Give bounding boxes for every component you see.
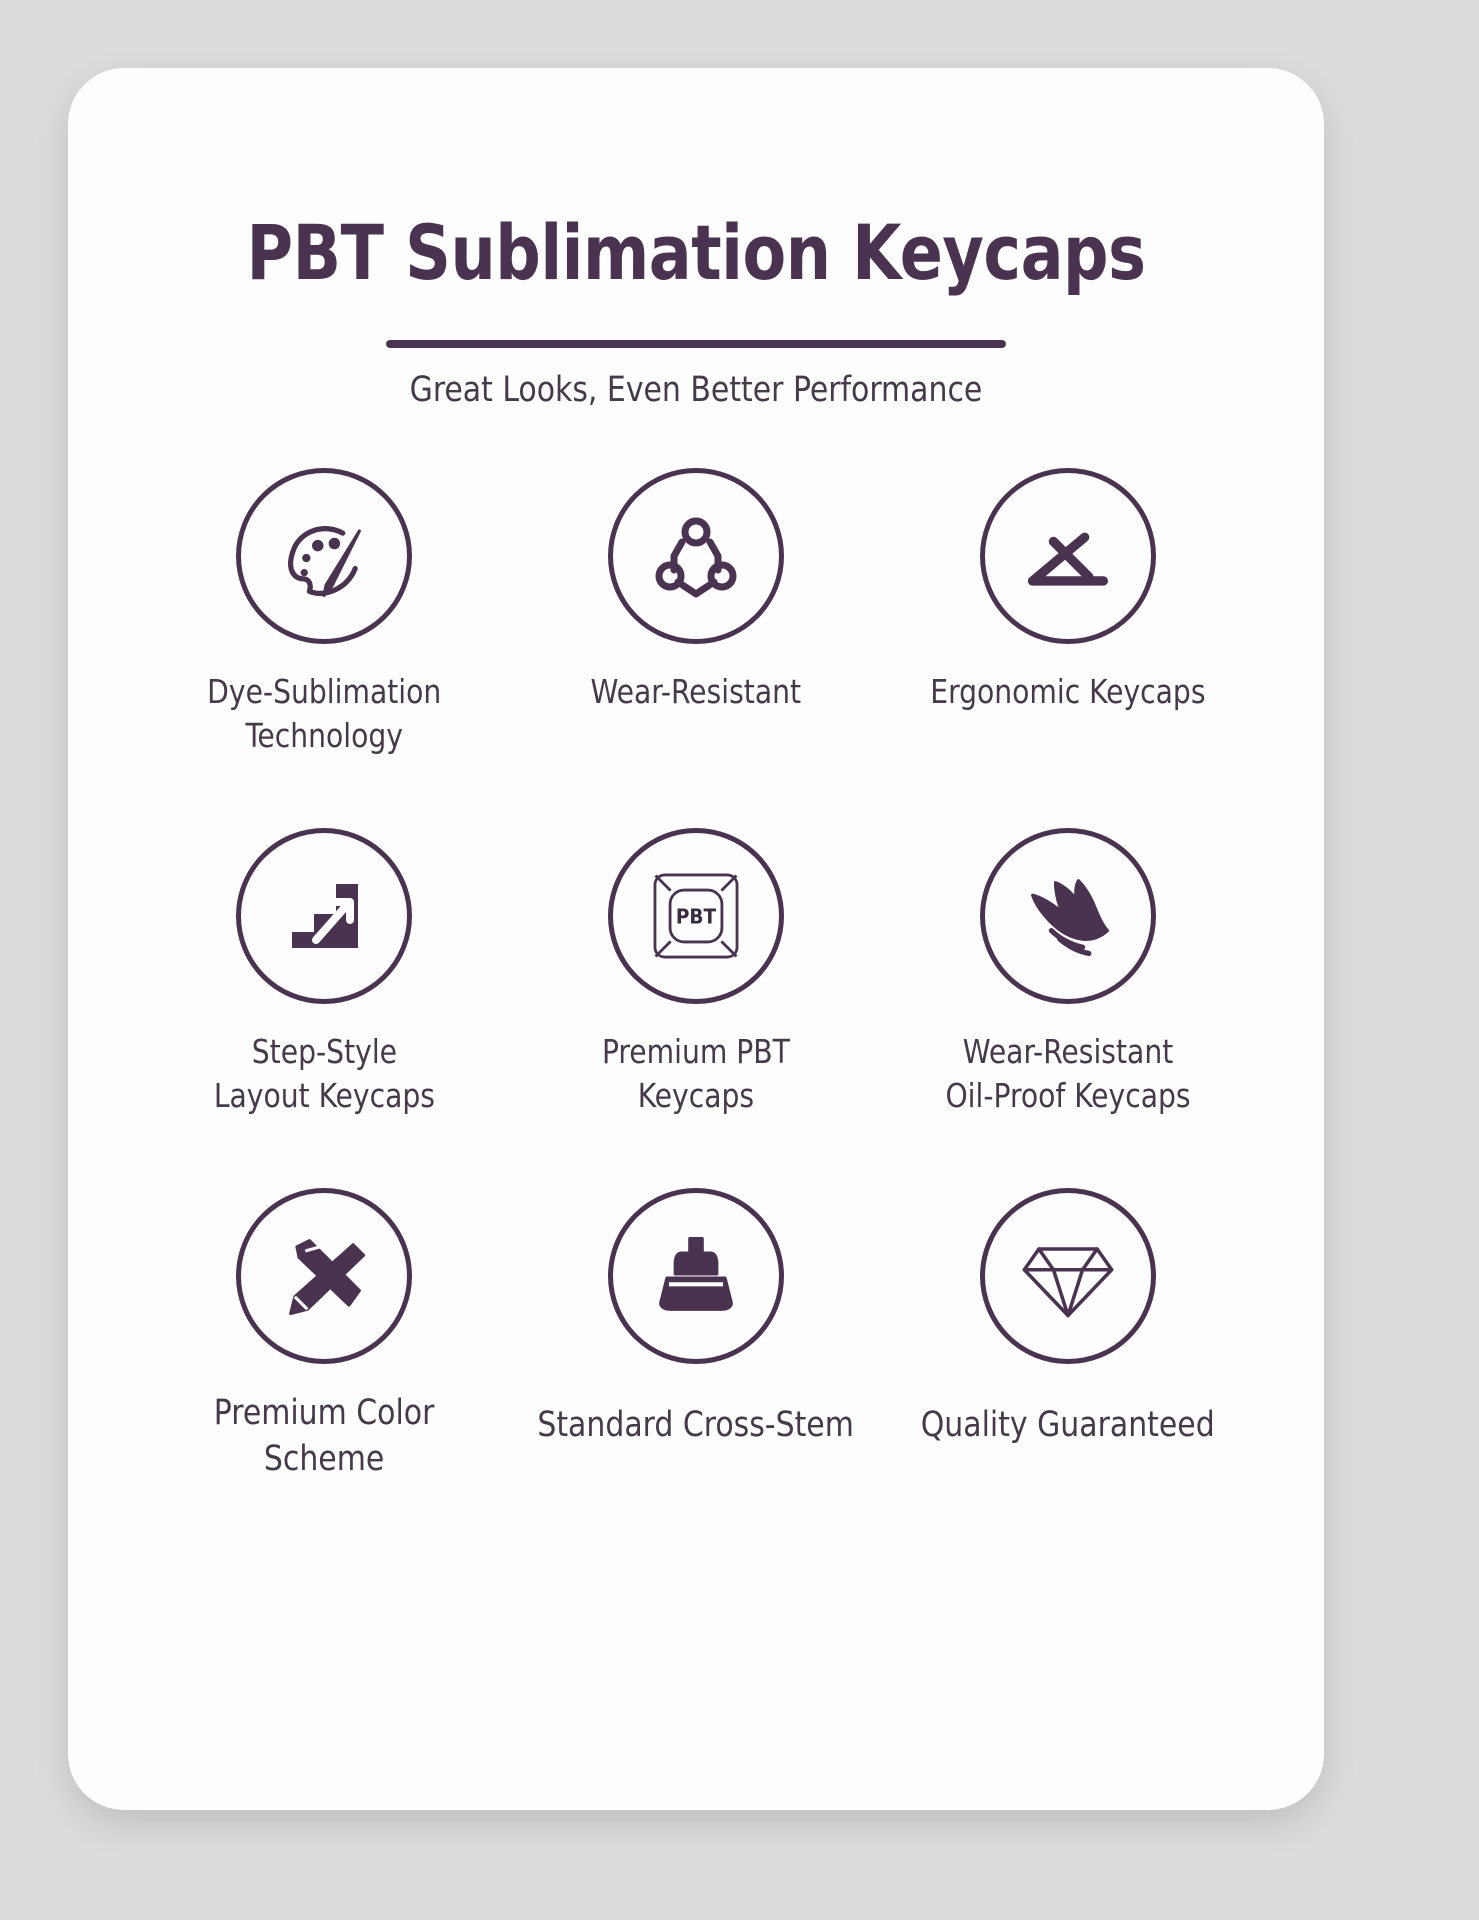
feature-label: Dye-Sublimation Technology (207, 670, 441, 757)
feature-item-color-scheme: Premium Color Scheme (138, 1188, 510, 1548)
molecule-icon (608, 468, 784, 644)
feature-label: Wear-Resistant Oil-Proof Keycaps (945, 1030, 1190, 1117)
feature-grid: Dye-Sublimation Technology Wear-Resistan… (138, 468, 1254, 1548)
fingers-swipe-icon (980, 828, 1156, 1004)
feature-label: Premium PBT Keycaps (602, 1030, 790, 1117)
feature-label: Wear-Resistant (591, 670, 801, 714)
stairs-arrow-icon (236, 828, 412, 1004)
feature-card: PBT Sublimation Keycaps Great Looks, Eve… (68, 68, 1324, 1810)
feature-item-dye-sublimation: Dye-Sublimation Technology (138, 468, 510, 828)
pbt-keycap-icon: PBT (608, 828, 784, 1004)
palette-icon (236, 468, 412, 644)
feature-label: Standard Cross-Stem (538, 1402, 855, 1448)
ergonomic-angle-icon (980, 468, 1156, 644)
keycap-legend-text: PBT (676, 905, 717, 929)
infographic-stage: PBT Sublimation Keycaps Great Looks, Eve… (0, 0, 1479, 1920)
feature-item-ergonomic: Ergonomic Keycaps (882, 468, 1254, 828)
feature-label: Step-Style Layout Keycaps (213, 1030, 434, 1117)
feature-label: Quality Guaranteed (921, 1402, 1215, 1448)
feature-item-premium-pbt: PBT Premium PBT Keycaps (510, 828, 882, 1188)
pen-cross-icon (236, 1188, 412, 1364)
feature-item-step-style: Step-Style Layout Keycaps (138, 828, 510, 1188)
page-subtitle: Great Looks, Even Better Performance (99, 370, 1292, 410)
diamond-icon (980, 1188, 1156, 1364)
page-title: PBT Sublimation Keycaps (112, 208, 1280, 297)
feature-item-wear-resistant: Wear-Resistant (510, 468, 882, 828)
cross-stem-icon (608, 1188, 784, 1364)
feature-item-cross-stem: Standard Cross-Stem (510, 1188, 882, 1548)
title-divider (386, 340, 1006, 348)
feature-label: Ergonomic Keycaps (930, 670, 1205, 714)
feature-item-quality: Quality Guaranteed (882, 1188, 1254, 1548)
feature-item-oil-proof: Wear-Resistant Oil-Proof Keycaps (882, 828, 1254, 1188)
feature-label: Premium Color Scheme (214, 1390, 435, 1482)
